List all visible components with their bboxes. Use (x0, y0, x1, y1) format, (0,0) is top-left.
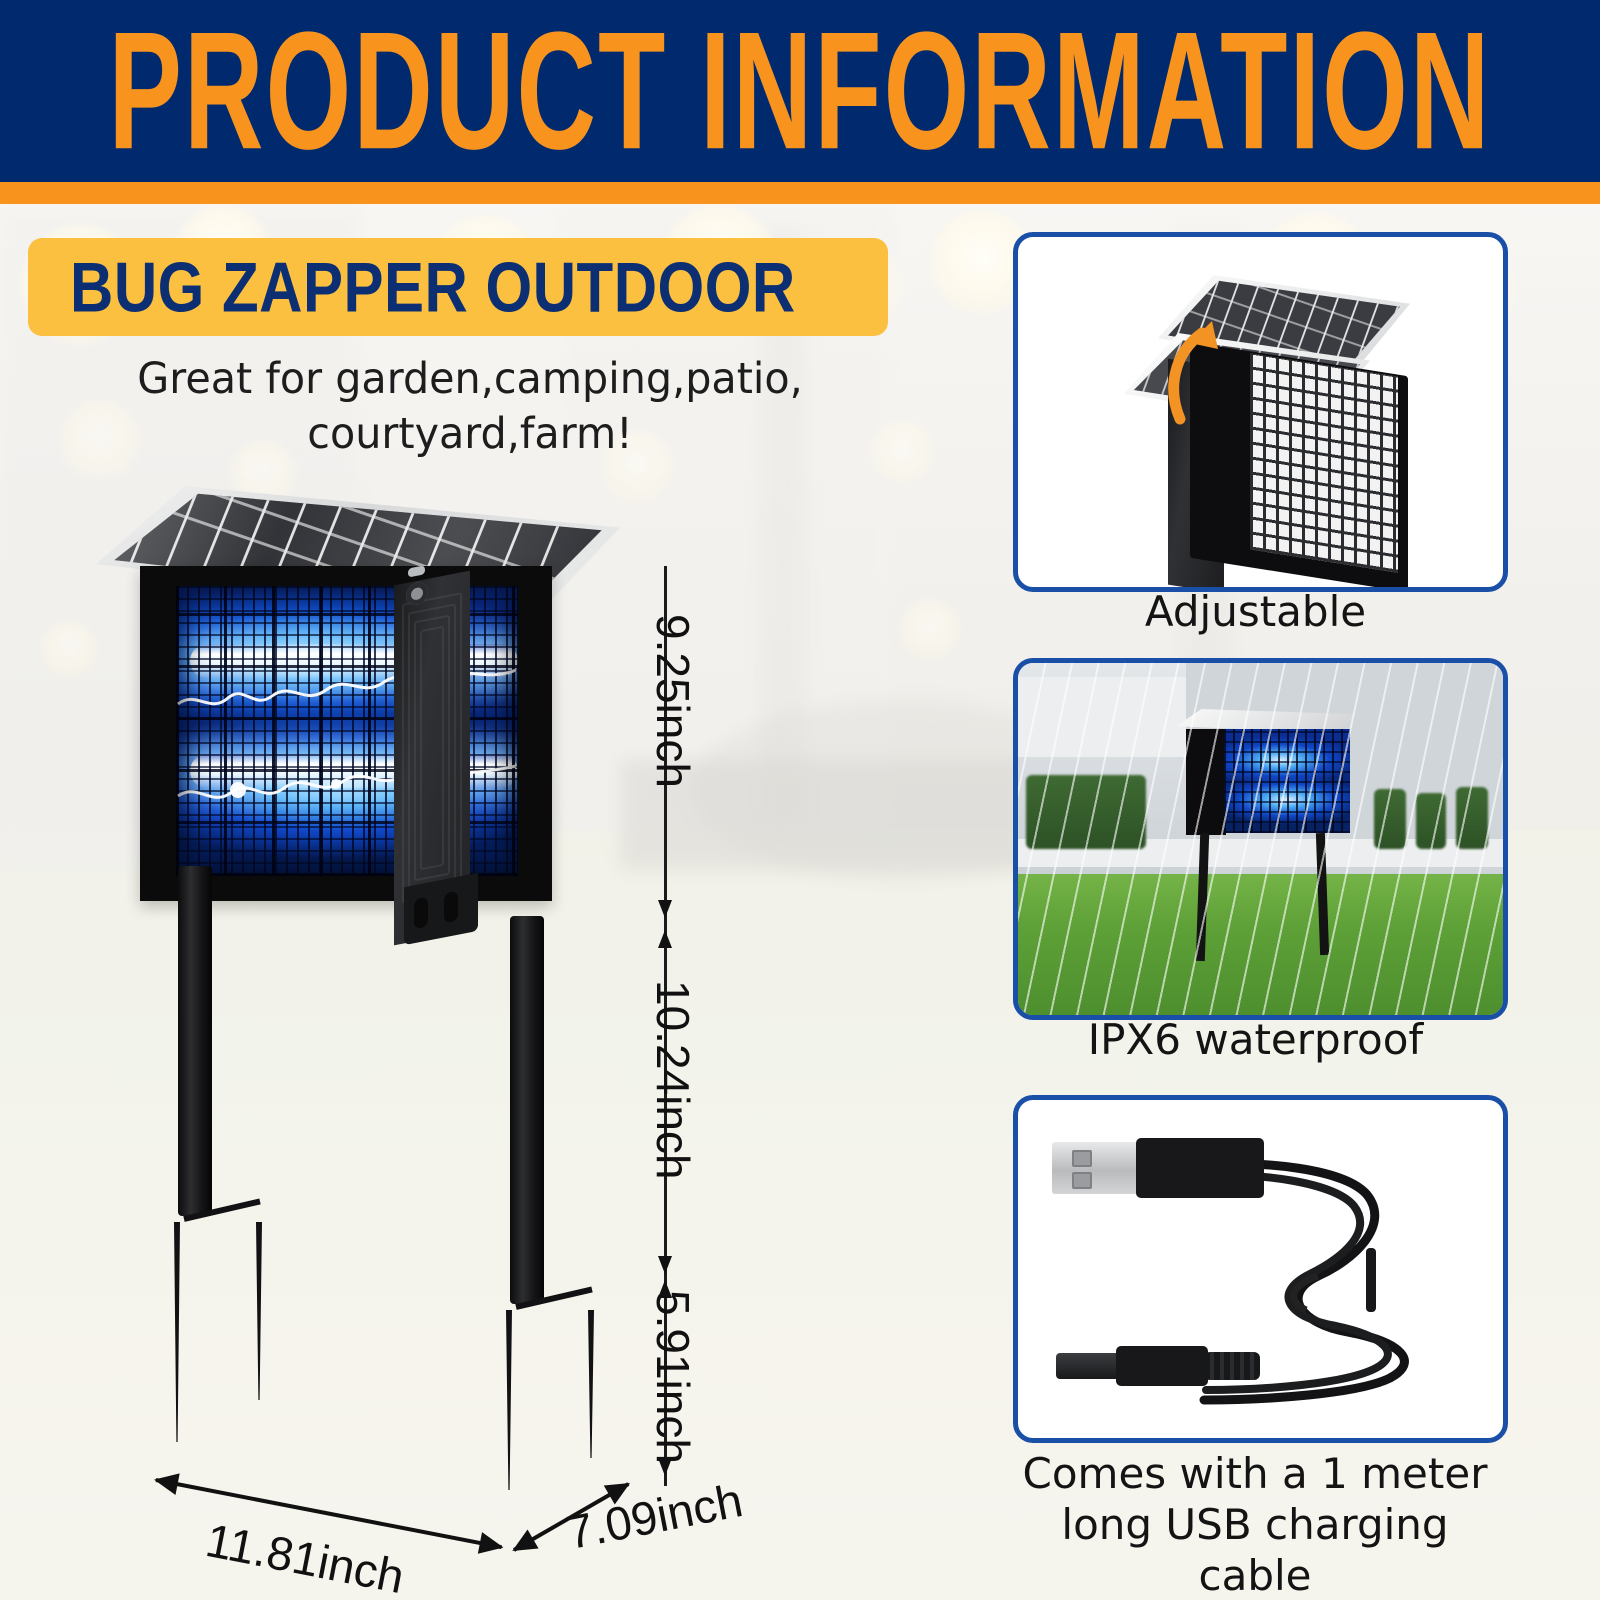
usb-a-connector (1052, 1142, 1268, 1198)
main-product-image: 9.25inch 10.24inch 5.91inch 11.81inch 7.… (0, 0, 1000, 1600)
stake-prong (588, 1310, 594, 1458)
product-infographic: PRODUCT INFORMATION BUG ZAPPER OUTDOOR G… (0, 0, 1600, 1600)
feature-card-usb-cable (1013, 1095, 1508, 1443)
rain-icon (1018, 663, 1503, 1015)
dimension-label-5-91: 5.91inch (646, 1290, 700, 1464)
stake-prong (506, 1310, 512, 1490)
feature-caption-adjustable: Adjustable (1013, 586, 1498, 637)
rotate-arrow-icon (1158, 307, 1228, 427)
dimension-arrow-down-2 (658, 1256, 672, 1274)
usb-caption-line-1: Comes with a 1 meter (1000, 1448, 1510, 1499)
dimension-arrow-down (658, 900, 672, 918)
stake-prong (256, 1222, 262, 1400)
feature-caption-waterproof: IPX6 waterproof (1013, 1014, 1498, 1065)
hinge-latch-icon (404, 563, 438, 618)
ground-stake-left (178, 866, 298, 1426)
dimension-label-9-25: 9.25inch (646, 614, 700, 788)
ground-stake-right (510, 916, 630, 1476)
zapper-body (140, 566, 552, 901)
dimension-label-10-24: 10.24inch (646, 980, 700, 1180)
dimension-label-7-09: 7.09inch (562, 1472, 747, 1560)
dimension-arrow-up (658, 930, 672, 948)
usb-caption-line-2: long USB charging cable (1000, 1499, 1510, 1600)
feature-caption-usb-cable: Comes with a 1 meter long USB charging c… (1000, 1448, 1510, 1600)
zapper-mesh-grid (1250, 353, 1398, 572)
dc-barrel-connector (1056, 1344, 1266, 1390)
stake-prong (174, 1222, 180, 1442)
feature-card-adjustable (1013, 232, 1508, 592)
feature-card-waterproof (1013, 658, 1508, 1020)
